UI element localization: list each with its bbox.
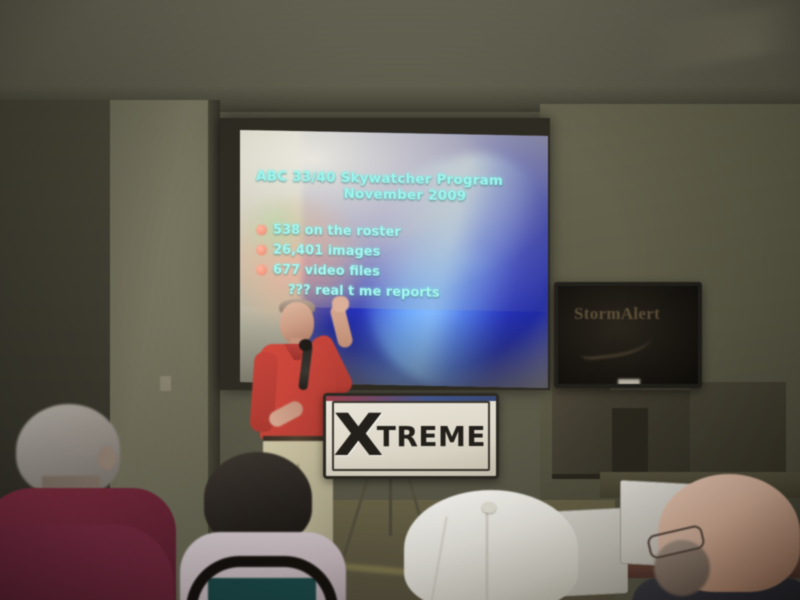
slide-bullet-label: 538 on the roster <box>273 221 401 242</box>
audience-member-bald-with-glasses <box>648 474 800 600</box>
monitor-power-led <box>618 379 640 386</box>
microphone-head-icon <box>299 339 312 351</box>
xtreme-banner: XTREME <box>323 393 499 479</box>
bullet-dot-icon <box>256 264 267 275</box>
stormalert-monitor: StormAlert <box>554 282 702 388</box>
cap-seam <box>486 512 488 600</box>
bullet-dot-icon <box>256 244 267 255</box>
slide-bullet-label: 677 video files <box>273 261 380 282</box>
audience-member-dark-haired <box>178 452 348 600</box>
audience-member-white-cap <box>398 490 584 600</box>
audience-shoulder <box>0 524 174 600</box>
slide-bullet-label: 26,401 images <box>273 241 380 262</box>
banner-text: XTREME <box>326 396 496 476</box>
cap-button <box>482 502 496 513</box>
monitor-label: StormAlert <box>574 304 660 324</box>
audience-hair <box>204 452 312 544</box>
wall-outlet <box>160 376 171 391</box>
bullet-dot-icon <box>256 224 267 235</box>
audience-ear <box>98 446 116 470</box>
presenter-raised-hand <box>332 296 349 312</box>
storage-box <box>612 408 648 474</box>
banner-rest-letters: TREME <box>377 420 486 453</box>
presentation-photo-scene: ABC 33/40 Skywatcher Program November 20… <box>0 0 800 600</box>
slide-bullet-list: 538 on the roster 26,401 images 677 vide… <box>256 220 536 305</box>
audience-member-gray-haired <box>0 404 180 600</box>
storage-box <box>690 382 786 482</box>
slide-title: ABC 33/40 Skywatcher Program November 20… <box>250 168 540 206</box>
